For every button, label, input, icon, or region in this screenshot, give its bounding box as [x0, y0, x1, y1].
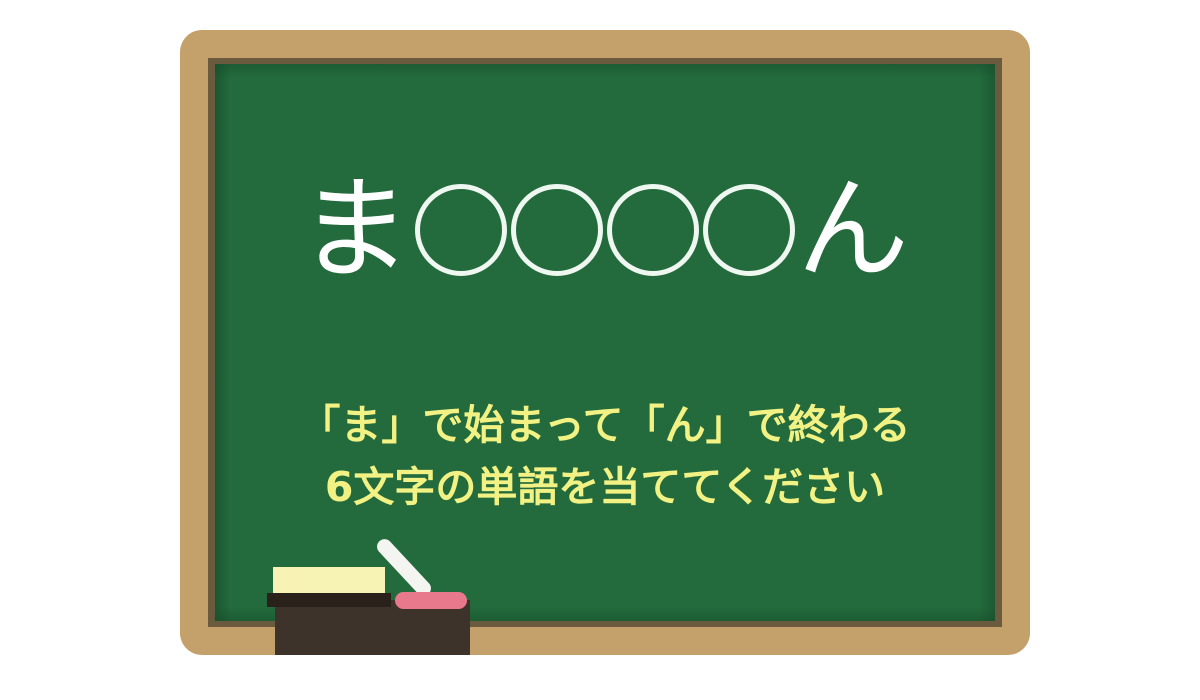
- puzzle-blank-circle-3[interactable]: [607, 184, 699, 276]
- blackboard-eraser-icon[interactable]: [273, 567, 385, 602]
- scene-canvas: まん 「ま」で始まって「ん」で終わる 6文字の単語を当ててください: [0, 0, 1200, 700]
- blackboard-surface: まん 「ま」で始まって「ん」で終わる 6文字の単語を当ててください: [215, 64, 995, 621]
- pink-chalk-icon[interactable]: [395, 592, 467, 609]
- puzzle-blank-circle-4[interactable]: [703, 184, 795, 276]
- eraser-base: [267, 593, 391, 607]
- puzzle-blank-circle-2[interactable]: [511, 184, 603, 276]
- puzzle-last-char: ん: [797, 165, 911, 295]
- puzzle-first-char: ま: [299, 165, 413, 295]
- instruction-text: 「ま」で始まって「ん」で終わる 6文字の単語を当ててください: [215, 394, 995, 519]
- instruction-line-2: 6文字の単語を当ててください: [215, 456, 995, 518]
- eraser-felt: [273, 567, 385, 593]
- puzzle-word-row: まん: [215, 174, 995, 286]
- puzzle-blank-circle-1[interactable]: [415, 184, 507, 276]
- instruction-line-1: 「ま」で始まって「ん」で終わる: [215, 394, 995, 456]
